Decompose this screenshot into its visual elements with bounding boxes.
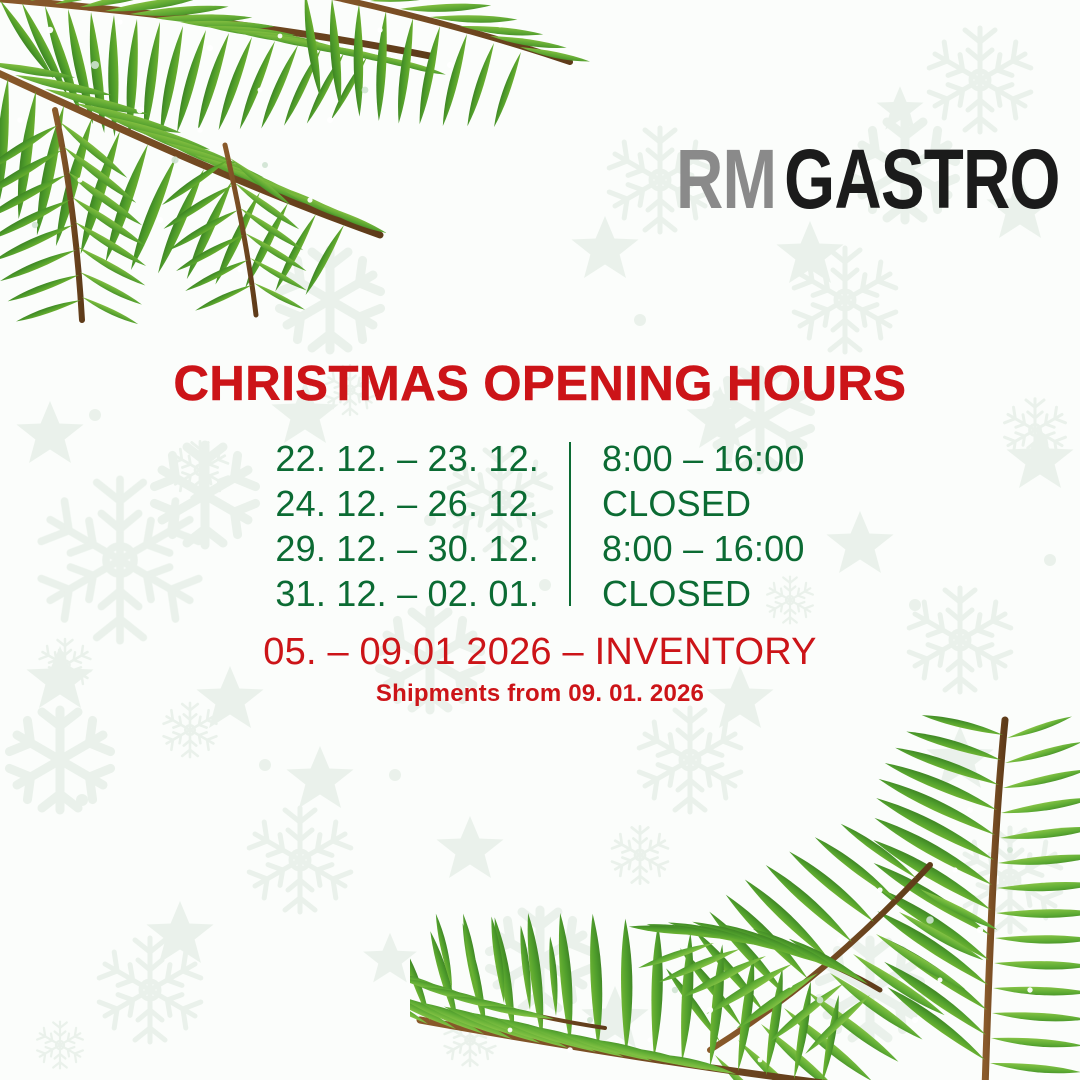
logo-text-rm: RM — [676, 132, 776, 226]
table-row: 24. 12. – 26. 12. — [275, 481, 539, 526]
shipments-notice: Shipments from 09. 01. 2026 — [0, 679, 1080, 709]
table-row: 8:00 – 16:00 — [602, 436, 805, 481]
times-column: 8:00 – 16:00 CLOSED 8:00 – 16:00 CLOSED — [570, 436, 805, 616]
table-row: 29. 12. – 30. 12. — [275, 526, 539, 571]
logo-text-gastro: GASTRO — [784, 132, 1060, 226]
table-row: 8:00 – 16:00 — [602, 526, 805, 571]
table-row: CLOSED — [602, 571, 805, 616]
inventory-notice: 05. – 09.01 2026 – INVENTORY — [0, 630, 1080, 674]
dates-column: 22. 12. – 23. 12. 24. 12. – 26. 12. 29. … — [275, 436, 569, 616]
page-title: CHRISTMAS OPENING HOURS — [0, 358, 1080, 410]
fir-branch-bottom-right-icon — [410, 690, 1080, 1080]
opening-hours-table: 22. 12. – 23. 12. 24. 12. – 26. 12. 29. … — [0, 436, 1080, 616]
brand-logo: RMGASTRO — [676, 137, 1060, 221]
christmas-opening-hours-poster: RMGASTRO CHRISTMAS OPENING HOURS 22. 12.… — [0, 0, 1080, 1080]
fir-branch-top-left-icon — [0, 0, 600, 370]
table-row: 31. 12. – 02. 01. — [275, 571, 539, 616]
table-row: CLOSED — [602, 481, 805, 526]
table-row: 22. 12. – 23. 12. — [275, 436, 539, 481]
